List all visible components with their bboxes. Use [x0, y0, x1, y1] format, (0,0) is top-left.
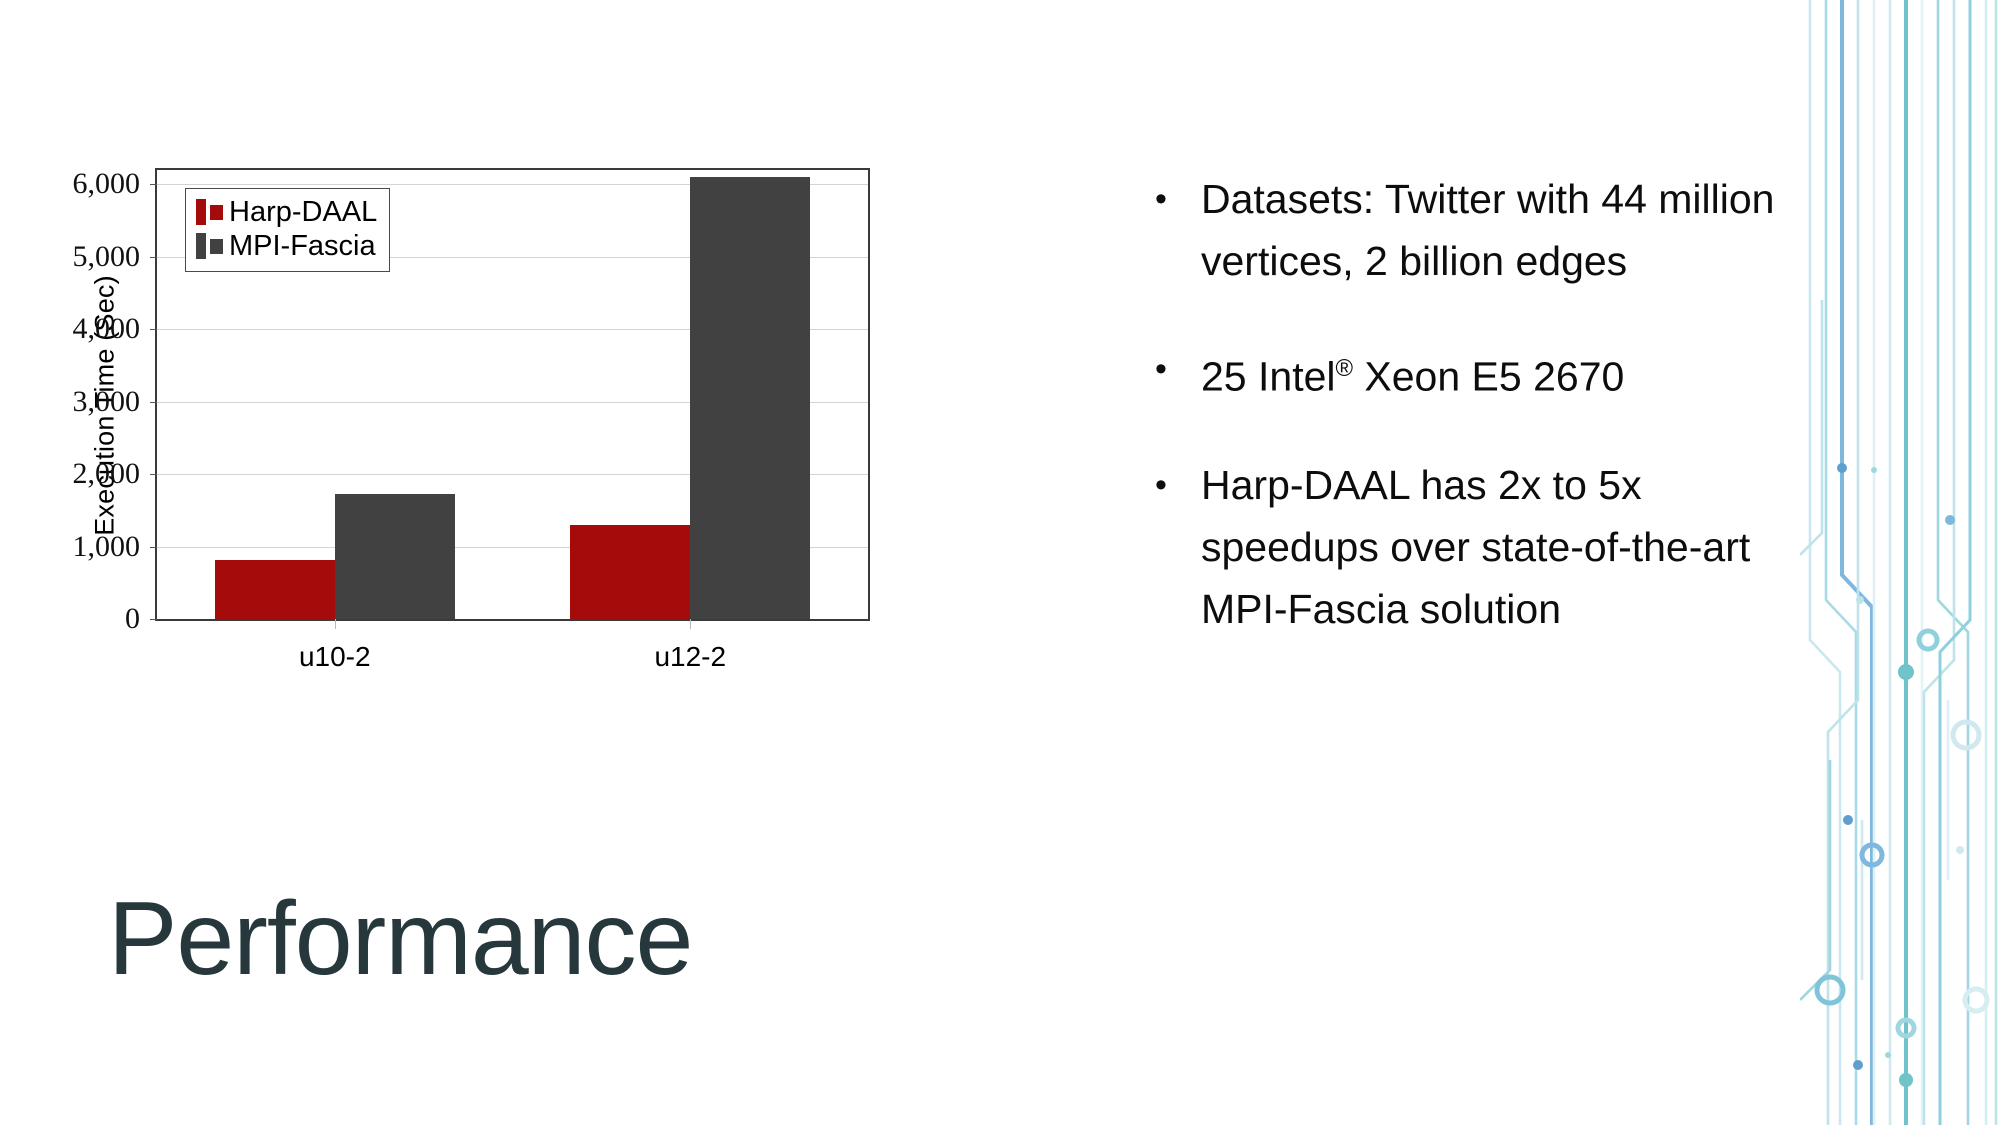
legend-item-harp-daal: Harp-DAAL — [196, 195, 377, 229]
chart-y-tick-label: 2,000 — [20, 457, 140, 491]
chart-legend: Harp-DAAL MPI-Fascia — [185, 188, 390, 272]
chart-x-tick-mark — [690, 619, 691, 629]
chart-y-tick-mark — [150, 257, 157, 258]
chart-y-tick-label: 1,000 — [20, 530, 140, 564]
chart-x-category-label: u10-2 — [299, 641, 371, 673]
list-item: • Datasets: Twitter with 44 million vert… — [1155, 168, 1775, 292]
chart-y-tick-label: 0 — [20, 602, 140, 636]
list-item: • 25 Intel® Xeon E5 2670 — [1155, 338, 1775, 408]
slide: Execution Time (Sec) 01,0002,0003,0004,0… — [0, 0, 2000, 1125]
chart-x-category-label: u12-2 — [654, 641, 726, 673]
chart-x-tick-mark — [335, 619, 336, 629]
chart-y-tick-label: 3,000 — [20, 385, 140, 419]
circuit-board-decoration-icon — [1800, 0, 2000, 1125]
bullet-marker-icon: • — [1155, 168, 1201, 292]
legend-item-mpi-fascia: MPI-Fascia — [196, 229, 377, 263]
legend-swatch-mpi-fascia — [196, 233, 223, 259]
chart-y-tick-mark — [150, 547, 157, 548]
chart-y-tick-mark — [150, 184, 157, 185]
bullet-list: • Datasets: Twitter with 44 million vert… — [1155, 168, 1775, 686]
legend-label-harp-daal: Harp-DAAL — [229, 198, 377, 227]
chart-y-tick-label: 6,000 — [20, 167, 140, 201]
chart-y-tick-mark — [150, 619, 157, 620]
chart-y-tick-label: 5,000 — [20, 240, 140, 274]
list-item: • Harp-DAAL has 2x to 5x speedups over s… — [1155, 454, 1775, 640]
performance-bar-chart: Execution Time (Sec) 01,0002,0003,0004,0… — [55, 120, 895, 800]
legend-label-mpi-fascia: MPI-Fascia — [229, 232, 376, 261]
chart-y-tick-label: 4,000 — [20, 312, 140, 346]
chart-y-tick-mark — [150, 329, 157, 330]
chart-y-tick-mark — [150, 402, 157, 403]
bullet-text: 25 Intel® Xeon E5 2670 — [1201, 338, 1624, 408]
chart-y-tick-mark — [150, 474, 157, 475]
bullet-text-post: Xeon E5 2670 — [1353, 354, 1624, 400]
chart-bar-mpi-fascia-u12-2 — [690, 177, 810, 619]
page-title: Performance — [108, 880, 692, 999]
bullet-text: Datasets: Twitter with 44 million vertic… — [1201, 168, 1775, 292]
bullet-text: Harp-DAAL has 2x to 5x speedups over sta… — [1201, 454, 1775, 640]
bullet-marker-icon: • — [1155, 338, 1201, 408]
bullet-text-pre: 25 Intel — [1201, 354, 1336, 400]
chart-bar-harp-daal-u10-2 — [215, 560, 335, 619]
chart-plot-area: 01,0002,0003,0004,0005,0006,000 u10-2u12… — [155, 168, 870, 621]
legend-swatch-harp-daal — [196, 199, 223, 225]
chart-bar-mpi-fascia-u10-2 — [335, 494, 455, 619]
registered-trademark-icon: ® — [1336, 355, 1354, 382]
chart-bar-harp-daal-u12-2 — [570, 525, 690, 619]
bullet-marker-icon: • — [1155, 454, 1201, 640]
